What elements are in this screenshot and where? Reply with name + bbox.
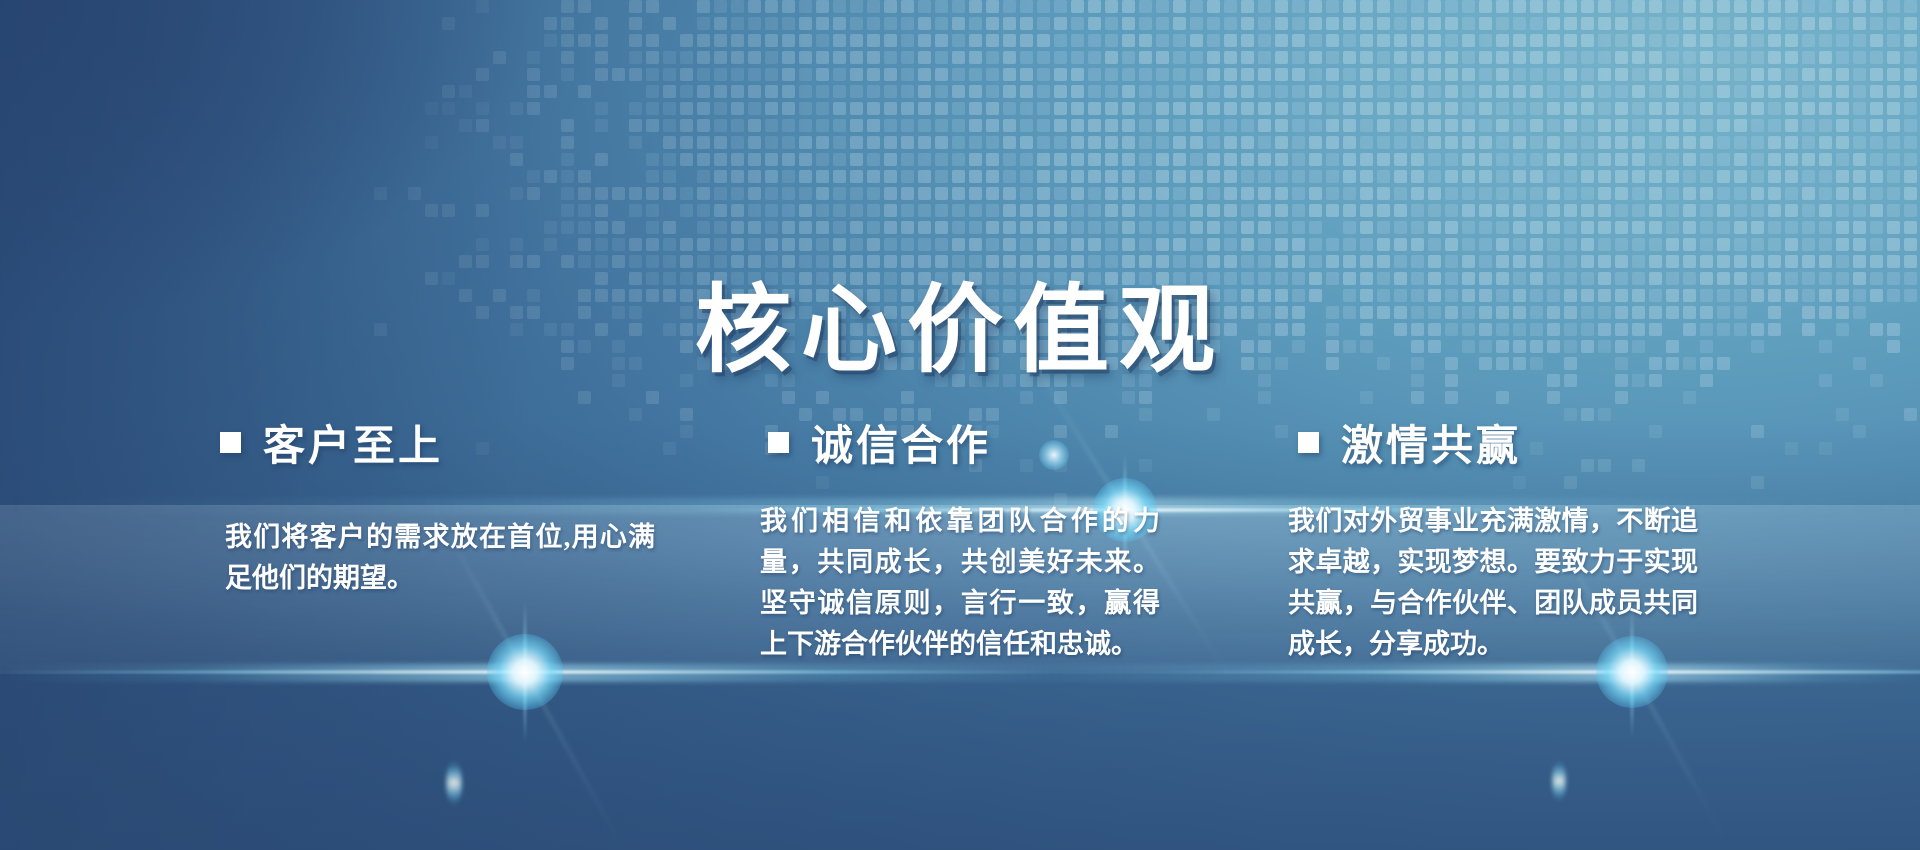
value-body-3: 我们对外贸事业充满激情，不断追求卓越，实现梦想。要致力于实现共赢，与合作伙伴、团… [1288,501,1698,665]
value-heading-3-label: 激情共赢 [1341,412,1521,473]
value-column-2: 诚信合作 我们相信和依靠团队合作的力量，共同成长，共创美好未来。坚守诚信原则，言… [760,412,1160,692]
square-bullet-icon [220,432,241,453]
square-bullet-icon [1298,432,1319,453]
slide-canvas: 核心价值观 客户至上 我们将客户的需求放在首位,用心满足他们的期望。 诚信合作 … [0,0,1920,850]
value-heading-1-label: 客户至上 [263,412,443,473]
value-heading-2: 诚信合作 [768,412,1160,473]
value-columns: 客户至上 我们将客户的需求放在首位,用心满足他们的期望。 诚信合作 我们相信和依… [0,0,1920,850]
value-body-1: 我们将客户的需求放在首位,用心满足他们的期望。 [225,517,655,599]
value-heading-3: 激情共赢 [1298,412,1698,473]
square-bullet-icon [768,432,789,453]
value-heading-2-label: 诚信合作 [811,412,991,473]
value-body-2: 我们相信和依靠团队合作的力量，共同成长，共创美好未来。坚守诚信原则，言行一致，赢… [760,501,1160,665]
value-column-3: 激情共赢 我们对外贸事业充满激情，不断追求卓越，实现梦想。要致力于实现共赢，与合… [1288,412,1698,692]
value-heading-1: 客户至上 [220,412,655,473]
slide-content: 核心价值观 客户至上 我们将客户的需求放在首位,用心满足他们的期望。 诚信合作 … [0,0,1920,850]
value-column-1: 客户至上 我们将客户的需求放在首位,用心满足他们的期望。 [225,412,655,626]
